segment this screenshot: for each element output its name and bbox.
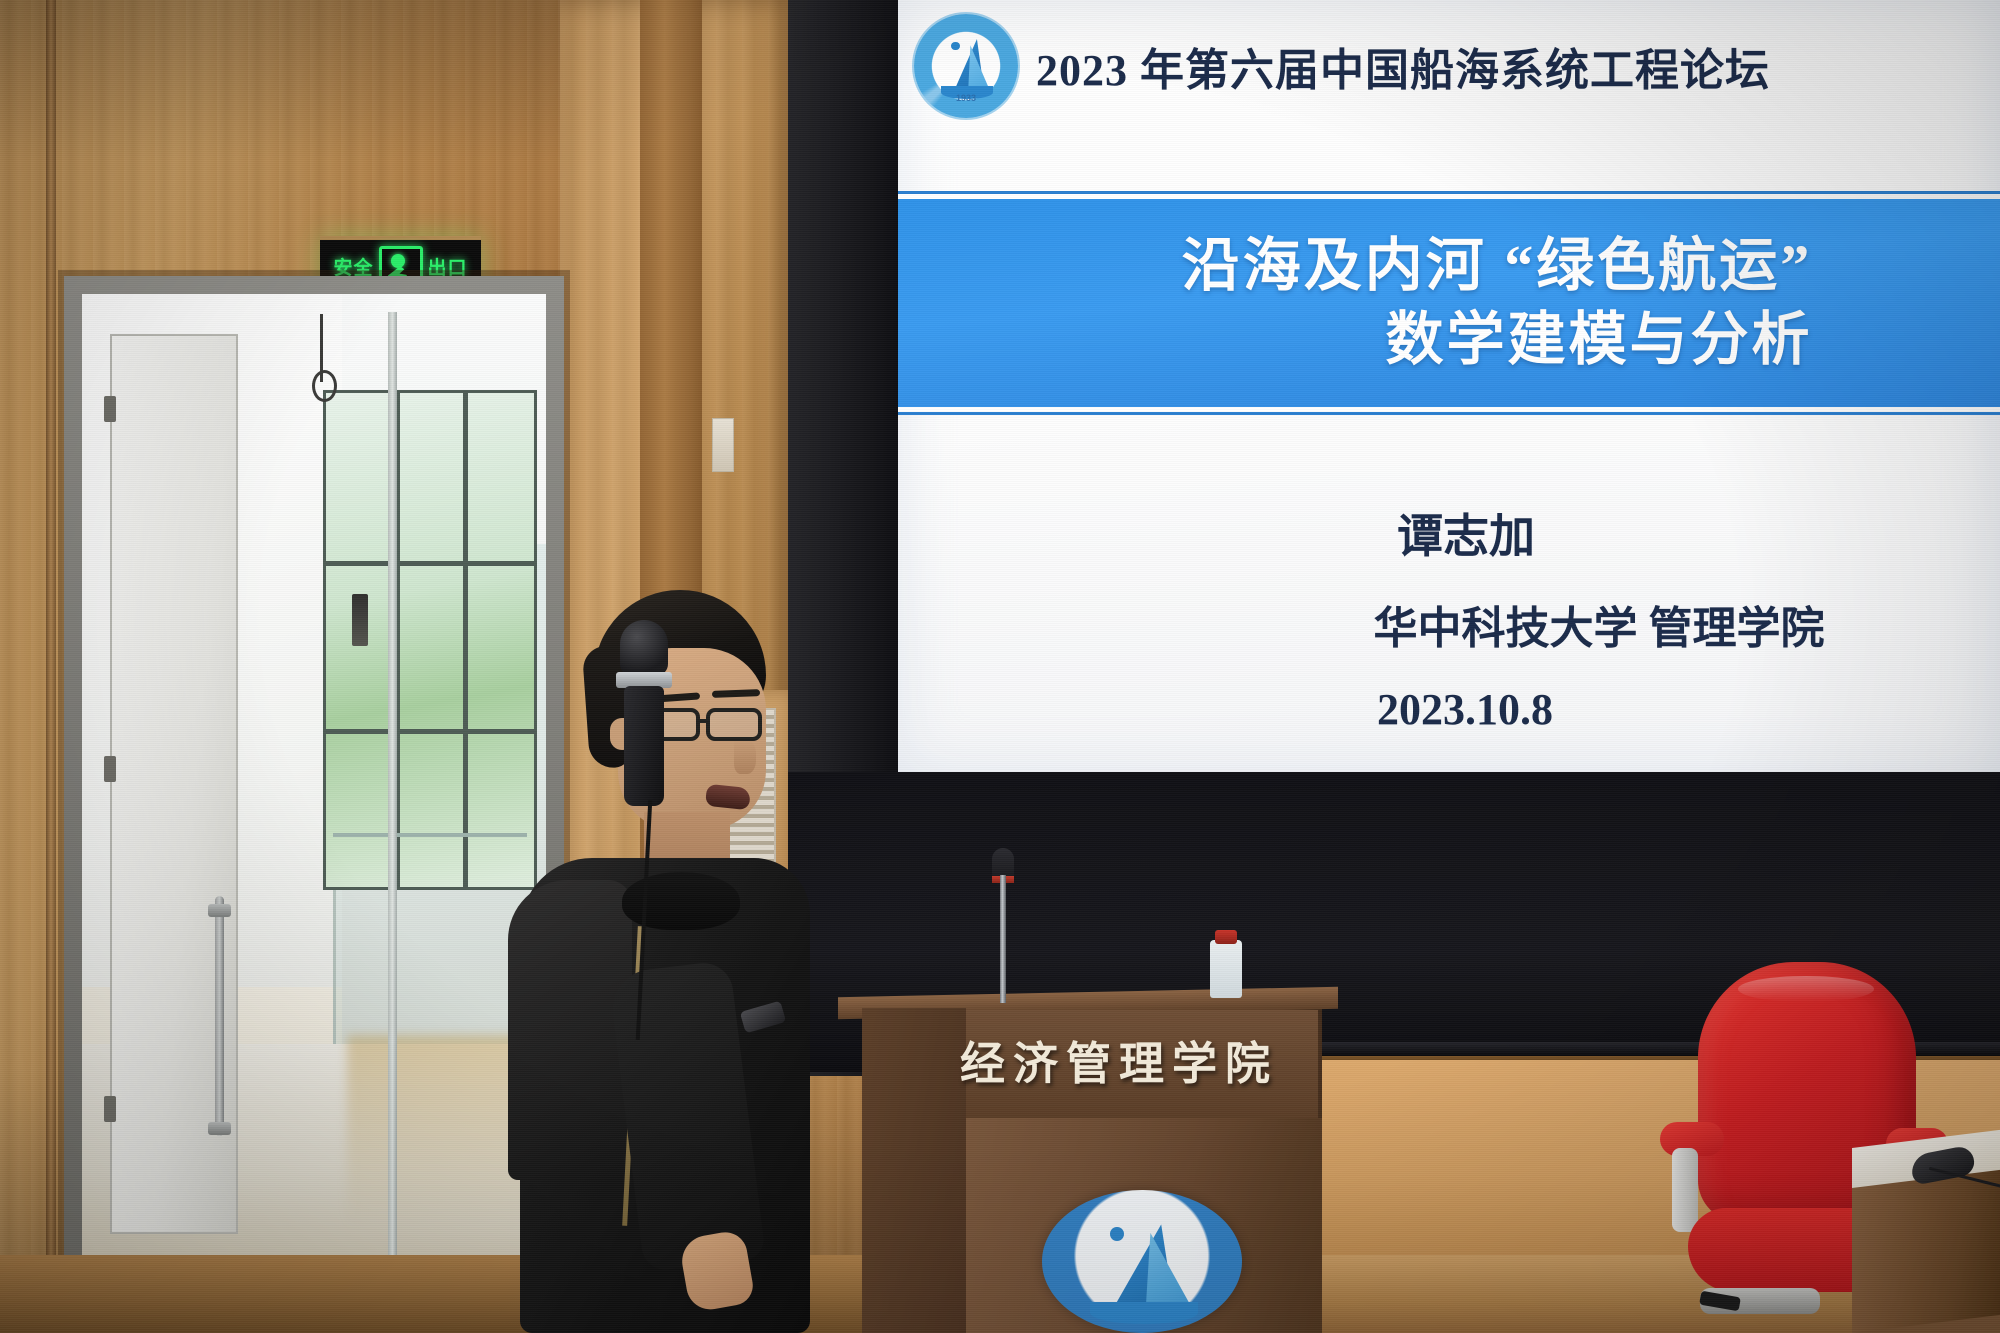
- doorway-frame: [64, 276, 564, 1256]
- presenter-nose: [734, 740, 756, 774]
- water-bottle[interactable]: [1210, 940, 1242, 998]
- presentation-photo-scene: 安全 出口 安全出口: [0, 0, 2000, 1333]
- door-handle-knob[interactable]: [208, 1122, 231, 1135]
- gooseneck-microphone-stand: [1000, 875, 1006, 1003]
- chair-highlight: [1738, 976, 1874, 1002]
- door-handle-knob[interactable]: [208, 904, 231, 917]
- doorway-opening: [82, 294, 546, 1256]
- hanging-cord: [320, 314, 323, 382]
- university-logo-icon: 1933: [914, 14, 1018, 118]
- wall-vent-small: [712, 418, 734, 472]
- slide-header: 1933 2023 年第六届中国船海系统工程论坛: [898, 10, 2000, 122]
- wall-panel-seam: [46, 0, 56, 1333]
- presenter-collar: [622, 872, 740, 930]
- projected-slide: 1933 2023 年第六届中国船海系统工程论坛 沿海及内河 “绿色航运” 数学…: [898, 0, 2000, 778]
- lectern-side-panel: [862, 1008, 966, 1333]
- handheld-microphone-body[interactable]: [624, 686, 664, 806]
- logo-year-label: 1933: [914, 93, 1018, 103]
- presenter-affiliation: 华中科技大学 管理学院: [1374, 592, 1825, 656]
- table-front-face: [1852, 1166, 2000, 1333]
- chair-armrest-post: [1672, 1148, 1698, 1232]
- eyeglasses-icon: [648, 708, 766, 742]
- slide-title-line-2: 数学建模与分析: [1385, 303, 1812, 377]
- slide-body: 谭志加 华中科技大学 管理学院 2023.10.8: [898, 432, 2000, 778]
- slide-header-title: 2023 年第六届中国船海系统工程论坛: [1036, 34, 1770, 98]
- slide-title-band: 沿海及内河 “绿色航运” 数学建模与分析: [898, 194, 2000, 412]
- open-door-leaf[interactable]: [110, 334, 238, 1234]
- handheld-microphone-head[interactable]: [620, 620, 668, 676]
- university-emblem-icon: [1042, 1190, 1242, 1333]
- water-bottle-cap: [1215, 930, 1237, 944]
- lectern-label: 经济管理学院: [960, 1018, 1340, 1100]
- presenter-name: 谭志加: [1397, 500, 1535, 566]
- presenter-shoulder: [508, 880, 632, 1180]
- door-card-reader[interactable]: [352, 594, 368, 646]
- presentation-date: 2023.10.8: [1377, 684, 1553, 735]
- door-pull-handle[interactable]: [215, 896, 224, 1136]
- slide-title-line-1: 沿海及内河 “绿色航运”: [1182, 229, 1813, 303]
- door-mullion: [388, 312, 397, 1256]
